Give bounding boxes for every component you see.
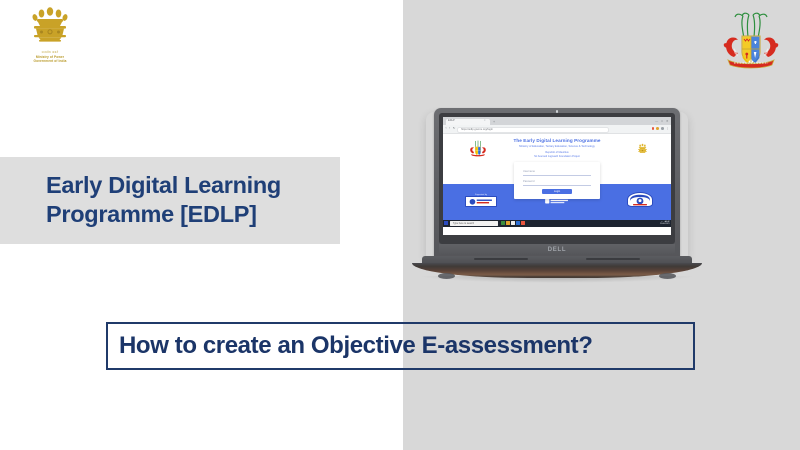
- taskbar-app-icon-1[interactable]: [501, 221, 505, 225]
- badge-supported-by: Supported by: [465, 194, 497, 208]
- password-label: Password: [523, 180, 534, 183]
- mauritius-coat-of-arms-icon: [714, 8, 788, 78]
- mauritius-coat-of-arms-logo: [714, 8, 788, 78]
- taskbar-clock[interactable]: 10:42 21-06-2021: [660, 221, 670, 226]
- clock-date: 21-06-2021: [660, 223, 670, 225]
- browser-extensions: ⋮: [652, 127, 669, 130]
- page-india-emblem-icon: [636, 139, 649, 159]
- laptop-ground-shadow: [418, 276, 696, 283]
- edlp-login-page: The Early Digital Learning Programme Min…: [443, 134, 671, 227]
- dell-brand-logo: DELL: [548, 247, 566, 253]
- extension-icon-amber[interactable]: [656, 127, 659, 130]
- india-national-emblem-icon: [25, 4, 75, 50]
- forward-icon[interactable]: ›: [449, 127, 450, 130]
- maximize-icon[interactable]: □: [661, 119, 663, 123]
- laptop-mockup: EDLP × + — □ ✕ ‹ › ↻: [412, 108, 702, 293]
- ministry-caption: सत्यमेव जयते Ministry of Power Governmen…: [34, 51, 67, 64]
- badge-body-3: [627, 192, 653, 207]
- login-button[interactable]: Login: [542, 189, 572, 195]
- login-button-label: Login: [554, 190, 560, 193]
- taskbar-app-icon-3[interactable]: [511, 221, 515, 225]
- new-tab-icon[interactable]: +: [493, 120, 495, 124]
- moe-crest-icon: [629, 194, 651, 206]
- login-card: Username Password Login: [514, 162, 600, 199]
- question-box: How to create an Objective E-assessment?: [106, 322, 695, 370]
- page-title: The Early Digital Learning Programme: [513, 138, 600, 143]
- address-bar[interactable]: https://edlp.govmu.org/login: [457, 127, 609, 133]
- laptop-chin-bezel: DELL: [439, 244, 675, 255]
- taskbar-app-icon-4[interactable]: [516, 221, 520, 225]
- window-controls: — □ ✕: [655, 119, 668, 123]
- page-subtitle-project: Sir Anerood Jugnauth Foundation Project: [534, 155, 580, 158]
- taskbar-search-placeholder: Type here to search: [453, 222, 474, 225]
- extension-icon-red[interactable]: [652, 127, 655, 130]
- slide-title-panel: Early Digital Learning Programme [EDLP]: [0, 157, 340, 244]
- taskbar-pinned-apps: [501, 221, 525, 225]
- close-tab-icon[interactable]: ×: [484, 120, 486, 122]
- badge-caption-1: Supported by: [465, 194, 497, 196]
- page-mauritius-coat-of-arms-icon: [467, 138, 489, 160]
- start-button-icon[interactable]: [444, 221, 448, 225]
- laptop-lid: EDLP × + — □ ✕ ‹ › ↻: [434, 108, 680, 260]
- back-icon[interactable]: ‹: [446, 127, 447, 130]
- password-field[interactable]: Password: [523, 179, 591, 186]
- emblem-line2: Government of India: [34, 59, 67, 63]
- laptop-hinge-vent-right: [586, 258, 640, 260]
- badge-moe: [627, 192, 653, 208]
- ministry-of-power-logo: सत्यमेव जयते Ministry of Power Governmen…: [8, 4, 92, 78]
- browser-nav-buttons: ‹ › ↻: [446, 127, 456, 130]
- extension-icon-gray[interactable]: [661, 127, 664, 130]
- mie-logo-icon: [467, 198, 495, 206]
- taskbar-search-input[interactable]: Type here to search: [450, 221, 498, 226]
- taskbar-app-icon-2[interactable]: [506, 221, 510, 225]
- taskbar-app-icon-5[interactable]: [521, 221, 525, 225]
- reload-icon[interactable]: ↻: [453, 127, 456, 130]
- question-text: How to create an Objective E-assessment?: [108, 334, 593, 358]
- badge-body-1: [465, 196, 497, 207]
- slide-title-line-2: Programme [EDLP]: [46, 200, 338, 229]
- page-subtitle-ministry: Ministry of Education, Tertiary Educatio…: [519, 145, 595, 148]
- windows-taskbar: Type here to search ˄ ▲ ♪: [443, 220, 671, 226]
- close-window-icon[interactable]: ✕: [666, 119, 669, 123]
- page-subtitle-republic: Republic of Mauritius: [545, 151, 568, 154]
- minimize-icon[interactable]: —: [655, 119, 658, 123]
- laptop-base: [412, 256, 702, 282]
- browser-tab-bar: EDLP × + — □ ✕: [443, 117, 671, 125]
- address-bar-url: https://edlp.govmu.org/login: [461, 128, 493, 132]
- username-field[interactable]: Username: [523, 169, 591, 176]
- edlp-wordmark-icon: [544, 198, 570, 204]
- browser-tab-title: EDLP: [448, 119, 455, 122]
- laptop-screen: EDLP × + — □ ✕ ‹ › ↻: [443, 117, 671, 235]
- laptop-hinge-vent-left: [474, 258, 528, 260]
- browser-menu-icon[interactable]: ⋮: [666, 127, 669, 130]
- slide-title-line-1: Early Digital Learning: [46, 171, 338, 200]
- username-label: Username: [523, 170, 535, 173]
- slide-canvas: सत्यमेव जयते Ministry of Power Governmen…: [0, 0, 800, 450]
